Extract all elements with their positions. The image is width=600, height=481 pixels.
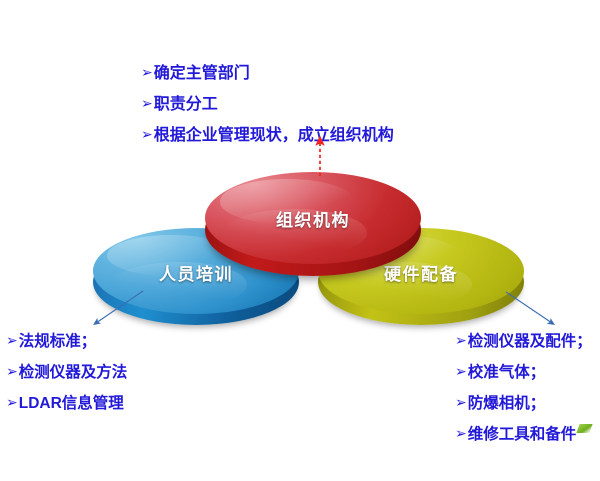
blue-arrow-down-left [96, 291, 143, 323]
diagram-canvas: ➢ 确定主管部门 ➢ 职责分工 ➢ 根据企业管理现状，成立组织机构 ➢ 法规标准… [0, 0, 600, 481]
connector-layer [0, 0, 600, 481]
blue-arrow-down-right [506, 292, 552, 323]
